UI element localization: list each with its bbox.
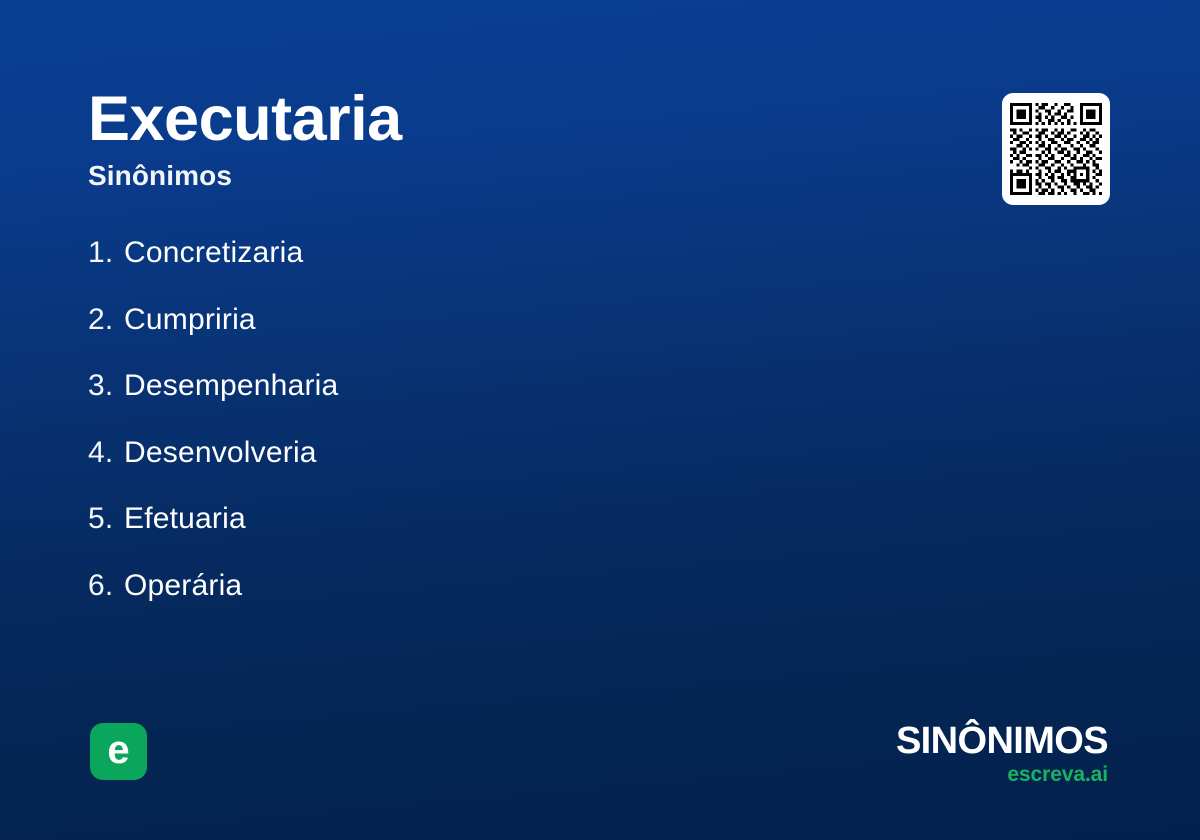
list-item-word: Desenvolveria xyxy=(124,436,317,470)
page-subtitle: Sinônimos xyxy=(88,159,788,193)
list-item: 5. Efetuaria xyxy=(88,502,848,569)
list-item-word: Efetuaria xyxy=(124,502,246,536)
qr-code-panel[interactable] xyxy=(1002,93,1110,205)
brand-domain: escreva.ai xyxy=(896,764,1108,785)
list-item: 6. Operária xyxy=(88,569,848,636)
card-header: Executaria Sinônimos xyxy=(88,86,788,192)
synonym-card: Executaria Sinônimos xyxy=(0,0,1200,840)
list-item-index: 5. xyxy=(88,502,124,536)
list-item: 3. Desempenharia xyxy=(88,369,848,436)
list-item: 4. Desenvolveria xyxy=(88,436,848,503)
list-item: 2. Cumpriria xyxy=(88,303,848,370)
list-item-word: Desempenharia xyxy=(124,369,338,403)
list-item-index: 2. xyxy=(88,303,124,337)
list-item-word: Concretizaria xyxy=(124,236,303,270)
list-item-word: Operária xyxy=(124,569,242,603)
list-item-index: 3. xyxy=(88,369,124,403)
list-item-index: 6. xyxy=(88,569,124,603)
brand-logo: SINÔNIMOS escreva.ai xyxy=(896,722,1108,785)
escreva-e-logo-icon: e xyxy=(90,723,147,780)
list-item-index: 1. xyxy=(88,236,124,270)
page-title: Executaria xyxy=(88,86,788,153)
brand-name: SINÔNIMOS xyxy=(896,722,1108,760)
qr-code-icon xyxy=(1010,103,1102,195)
list-item-index: 4. xyxy=(88,436,124,470)
synonym-list: 1. Concretizaria 2. Cumpriria 3. Desempe… xyxy=(88,236,848,635)
list-item: 1. Concretizaria xyxy=(88,236,848,303)
list-item-word: Cumpriria xyxy=(124,303,256,337)
badge-letter: e xyxy=(107,730,129,770)
